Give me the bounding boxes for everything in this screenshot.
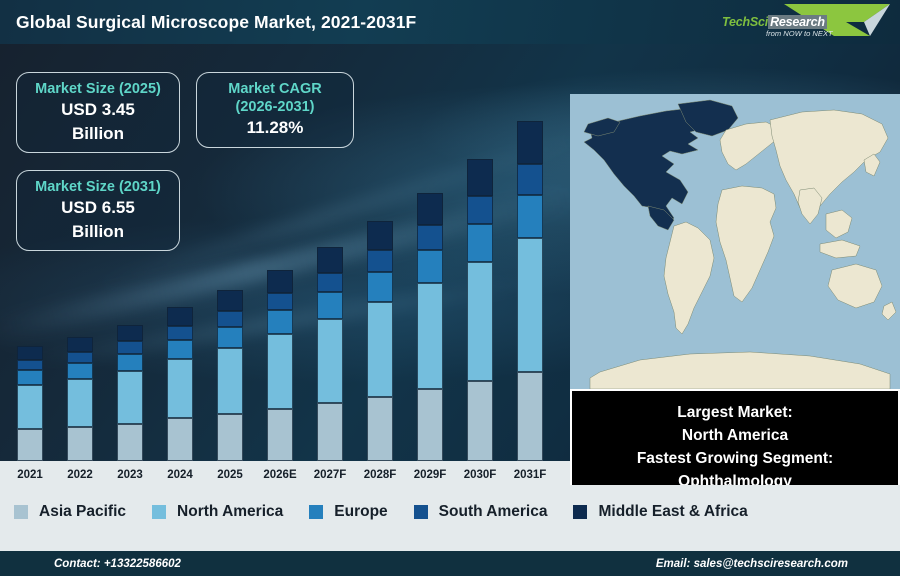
bar-segment-asia-pacific [167, 418, 193, 461]
x-axis-label-2028F: 2028F [352, 469, 408, 481]
legend-swatch-icon [414, 505, 428, 519]
bar-segment-south-america [467, 196, 493, 224]
bar-segment-asia-pacific [67, 427, 93, 461]
bar-segment-north-america [317, 319, 343, 403]
x-axis-labels: 202120222023202420252026E2027F2028F2029F… [0, 461, 570, 485]
x-axis-label-2022: 2022 [52, 469, 108, 481]
bar-segment-europe [267, 310, 293, 334]
bar-2021 [17, 346, 43, 461]
techsci-logo: TechSciResearch from NOW to NEXT [714, 2, 892, 42]
bar-2029F [417, 193, 443, 461]
chart-legend: Asia PacificNorth AmericaEuropeSouth Ame… [0, 485, 900, 539]
footer-contact: Contact: +13322586602 [54, 558, 181, 570]
bar-segment-europe [217, 327, 243, 348]
header-bar: Global Surgical Microscope Market, 2021-… [0, 0, 900, 44]
legend-swatch-icon [309, 505, 323, 519]
legend-item-north-america[interactable]: North America [152, 503, 283, 521]
logo-tech-text: TechSci [722, 15, 768, 29]
bar-segment-north-america [417, 283, 443, 389]
bar-segment-middle-east-africa [367, 221, 393, 250]
bar-segment-middle-east-africa [467, 159, 493, 196]
bar-segment-north-america [367, 302, 393, 396]
bar-segment-middle-east-africa [117, 325, 143, 342]
legend-label: North America [177, 503, 283, 521]
bar-2024 [167, 307, 193, 461]
bar-2028F [367, 221, 393, 461]
x-axis-label-2027F: 2027F [302, 469, 358, 481]
bar-segment-europe [17, 370, 43, 385]
legend-item-south-america[interactable]: South America [414, 503, 548, 521]
bar-segment-middle-east-africa [417, 193, 443, 226]
bar-segment-asia-pacific [217, 414, 243, 461]
bar-segment-asia-pacific [117, 424, 143, 461]
infographic-root: Global Surgical Microscope Market, 2021-… [0, 0, 900, 576]
bar-segment-north-america [167, 359, 193, 418]
x-axis-label-2029F: 2029F [402, 469, 458, 481]
bar-segment-asia-pacific [267, 409, 293, 461]
bar-segment-europe [367, 272, 393, 302]
callout-largest-market-value: North America [682, 425, 788, 448]
bar-segment-europe [417, 250, 443, 284]
legend-label: Middle East & Africa [598, 503, 747, 521]
x-axis-label-2021: 2021 [2, 469, 58, 481]
bar-segment-europe [167, 340, 193, 359]
world-map [570, 94, 900, 389]
bar-segment-south-america [17, 360, 43, 370]
bar-segment-europe [517, 195, 543, 238]
legend-swatch-icon [573, 505, 587, 519]
bar-segment-asia-pacific [467, 381, 493, 461]
legend-label: Asia Pacific [39, 503, 126, 521]
bar-segment-asia-pacific [317, 403, 343, 461]
x-axis-label-2023: 2023 [102, 469, 158, 481]
bar-segment-middle-east-africa [317, 247, 343, 273]
bar-segment-south-america [267, 293, 293, 310]
callout-fastest-segment-label: Fastest Growing Segment: [637, 448, 833, 471]
bar-segment-europe [67, 363, 93, 379]
bar-segment-europe [467, 224, 493, 262]
bar-segment-north-america [517, 238, 543, 372]
bar-segment-north-america [67, 379, 93, 427]
x-axis-label-2031F: 2031F [502, 469, 558, 481]
bar-segment-middle-east-africa [217, 290, 243, 311]
main-panel: Market Size (2025) USD 3.45 Billion Mark… [0, 44, 900, 485]
logo-research-text: Research [768, 15, 827, 29]
logo-wordmark: TechSciResearch [722, 15, 827, 29]
stacked-bar-chart: 202120222023202420252026E2027F2028F2029F… [0, 44, 570, 485]
bar-segment-asia-pacific [367, 397, 393, 461]
bar-segment-south-america [317, 273, 343, 292]
x-axis-label-2030F: 2030F [452, 469, 508, 481]
bar-segment-asia-pacific [517, 372, 543, 461]
bar-2025 [217, 290, 243, 461]
bar-segment-south-america [117, 341, 143, 353]
bar-segment-middle-east-africa [167, 307, 193, 326]
bar-2023 [117, 325, 143, 461]
bar-segment-south-america [167, 326, 193, 340]
legend-swatch-icon [152, 505, 166, 519]
legend-label: South America [439, 503, 548, 521]
x-axis-label-2024: 2024 [152, 469, 208, 481]
bar-segment-north-america [217, 348, 243, 414]
bar-segment-asia-pacific [17, 429, 43, 461]
bar-segment-north-america [117, 371, 143, 424]
bar-segment-europe [317, 292, 343, 318]
bar-2031F [517, 121, 543, 461]
bar-segment-middle-east-africa [17, 346, 43, 360]
bar-segment-south-america [67, 352, 93, 363]
bar-2027F [317, 247, 343, 461]
legend-item-asia-pacific[interactable]: Asia Pacific [14, 503, 126, 521]
x-axis-label-2025: 2025 [202, 469, 258, 481]
page-title: Global Surgical Microscope Market, 2021-… [16, 12, 416, 33]
bar-segment-middle-east-africa [517, 121, 543, 164]
logo-tagline: from NOW to NEXT [766, 29, 833, 38]
bar-segment-north-america [467, 262, 493, 381]
callout-largest-market-label: Largest Market: [677, 402, 792, 425]
bar-segment-north-america [267, 334, 293, 409]
bar-segment-south-america [517, 164, 543, 195]
legend-item-europe[interactable]: Europe [309, 503, 387, 521]
legend-item-middle-east-africa[interactable]: Middle East & Africa [573, 503, 747, 521]
bar-segment-south-america [417, 225, 443, 249]
footer-email: Email: sales@techsciresearch.com [656, 558, 848, 570]
legend-label: Europe [334, 503, 387, 521]
legend-swatch-icon [14, 505, 28, 519]
world-map-svg [570, 94, 900, 389]
bar-segment-asia-pacific [417, 389, 443, 461]
bar-segment-south-america [217, 311, 243, 327]
footer-bar: Contact: +13322586602 Email: sales@techs… [0, 551, 900, 576]
bar-segment-south-america [367, 250, 393, 272]
bar-2026E [267, 270, 293, 461]
bar-segment-middle-east-africa [267, 270, 293, 293]
bar-segment-north-america [17, 385, 43, 429]
bar-2022 [67, 337, 93, 461]
bar-2030F [467, 159, 493, 461]
bar-segment-europe [117, 354, 143, 371]
x-axis-label-2026E: 2026E [252, 469, 308, 481]
bar-segment-middle-east-africa [67, 337, 93, 352]
